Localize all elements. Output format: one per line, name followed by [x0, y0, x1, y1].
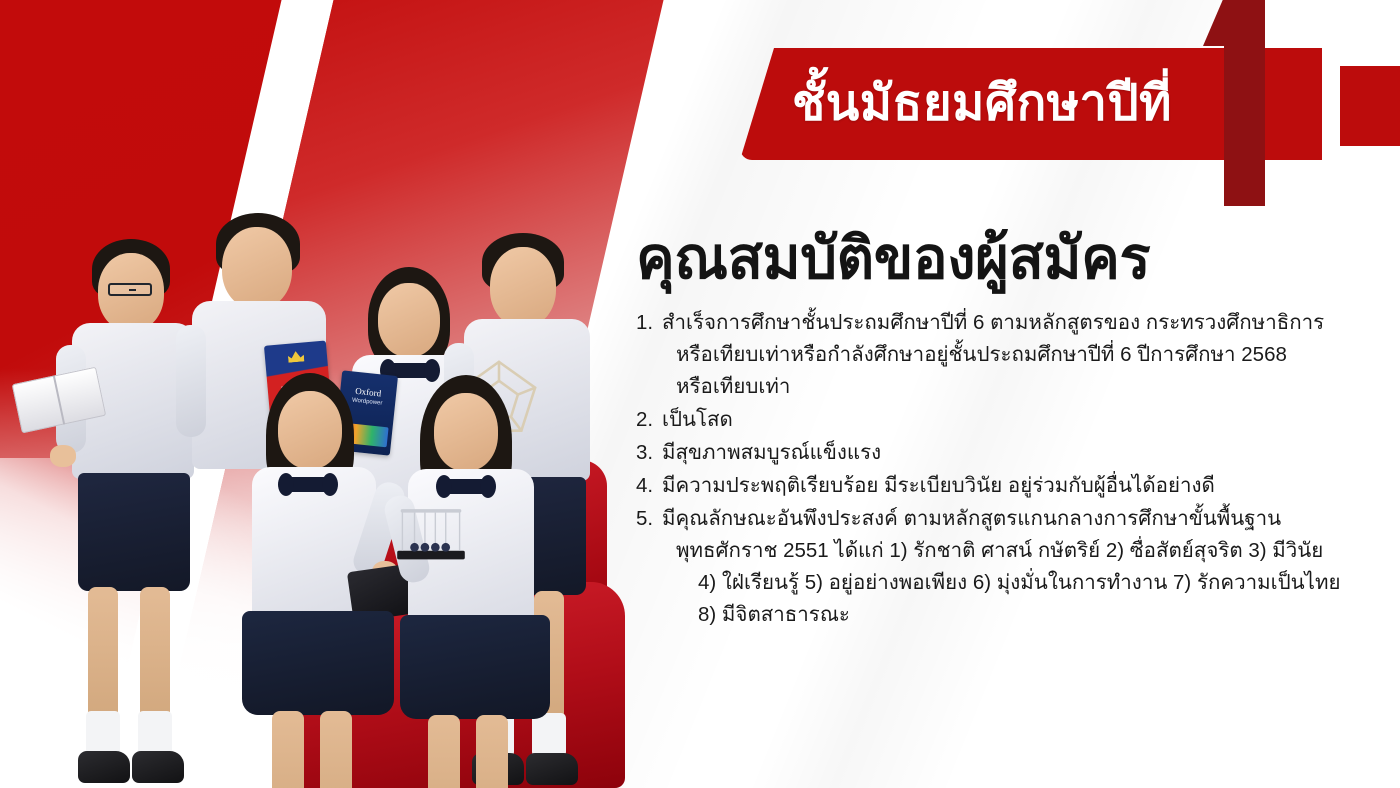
grade-banner-label: ชั้นมัธยมศึกษาปีที่: [792, 63, 1172, 141]
requirement-body: เป็นโสด: [662, 404, 1376, 436]
requirement-number: 4.: [636, 470, 662, 502]
requirement-line: หรือเทียบเท่า: [662, 371, 1376, 403]
requirement-body: มีความประพฤติเรียบร้อย มีระเบียบวินัย อย…: [662, 470, 1376, 502]
requirement-line: พุทธศักราช 2551 ได้แก่ 1) รักชาติ ศาสน์ …: [662, 535, 1376, 567]
requirement-item: 5.มีคุณลักษณะอันพึงประสงค์ ตามหลักสูตรแก…: [636, 503, 1376, 631]
grade-banner: ชั้นมัธยมศึกษาปีที่: [740, 48, 1400, 160]
requirement-body: สำเร็จการศึกษาชั้นประถมศึกษาปีที่ 6 ตามห…: [662, 307, 1376, 403]
requirement-line: หรือเทียบเท่าหรือกำลังศึกษาอยู่ชั้นประถม…: [662, 339, 1376, 371]
requirement-line: 4) ใฝ่เรียนรู้ 5) อยู่อย่างพอเพียง 6) มุ…: [662, 567, 1376, 599]
requirement-number: 3.: [636, 437, 662, 469]
page-title: คุณสมบัติของผู้สมัคร: [636, 228, 1376, 289]
grade-number-stem: [1224, 0, 1265, 206]
requirement-line: เป็นโสด: [662, 404, 1376, 436]
uniform-bow: [444, 479, 488, 494]
requirement-number: 2.: [636, 404, 662, 436]
grade-number-graphic: [1203, 0, 1265, 206]
requirement-item: 3.มีสุขภาพสมบูรณ์แข็งแรง: [636, 437, 1376, 469]
requirement-item: 1.สำเร็จการศึกษาชั้นประถมศึกษาปีที่ 6 ตา…: [636, 307, 1376, 403]
uniform-bow: [286, 477, 330, 492]
poster-canvas: พจนานุกรม Oxford Wordpower: [0, 0, 1400, 788]
requirement-line: 8) มีจิตสาธารณะ: [662, 599, 1376, 631]
newtons-cradle-prop: [392, 505, 470, 567]
requirement-body: มีสุขภาพสมบูรณ์แข็งแรง: [662, 437, 1376, 469]
requirement-item: 4.มีความประพฤติเรียบร้อย มีระเบียบวินัย …: [636, 470, 1376, 502]
requirements-list: 1.สำเร็จการศึกษาชั้นประถมศึกษาปีที่ 6 ตา…: [636, 307, 1376, 631]
crown-emblem-icon: [288, 350, 305, 362]
requirement-line: มีสุขภาพสมบูรณ์แข็งแรง: [662, 437, 1376, 469]
requirement-number: 5.: [636, 503, 662, 535]
grade-banner-tail: [1340, 66, 1400, 146]
requirement-item: 2.เป็นโสด: [636, 404, 1376, 436]
requirement-line: มีคุณลักษณะอันพึงประสงค์ ตามหลักสูตรแกนก…: [662, 503, 1376, 535]
requirement-body: มีคุณลักษณะอันพึงประสงค์ ตามหลักสูตรแกนก…: [662, 503, 1376, 631]
requirement-line: สำเร็จการศึกษาชั้นประถมศึกษาปีที่ 6 ตามห…: [662, 307, 1376, 339]
requirement-number: 1.: [636, 307, 662, 339]
requirement-line: มีความประพฤติเรียบร้อย มีระเบียบวินัย อย…: [662, 470, 1376, 502]
content-column: คุณสมบัติของผู้สมัคร 1.สำเร็จการศึกษาชั้…: [636, 228, 1376, 632]
student-group-photo: พจนานุกรม Oxford Wordpower: [20, 205, 640, 788]
